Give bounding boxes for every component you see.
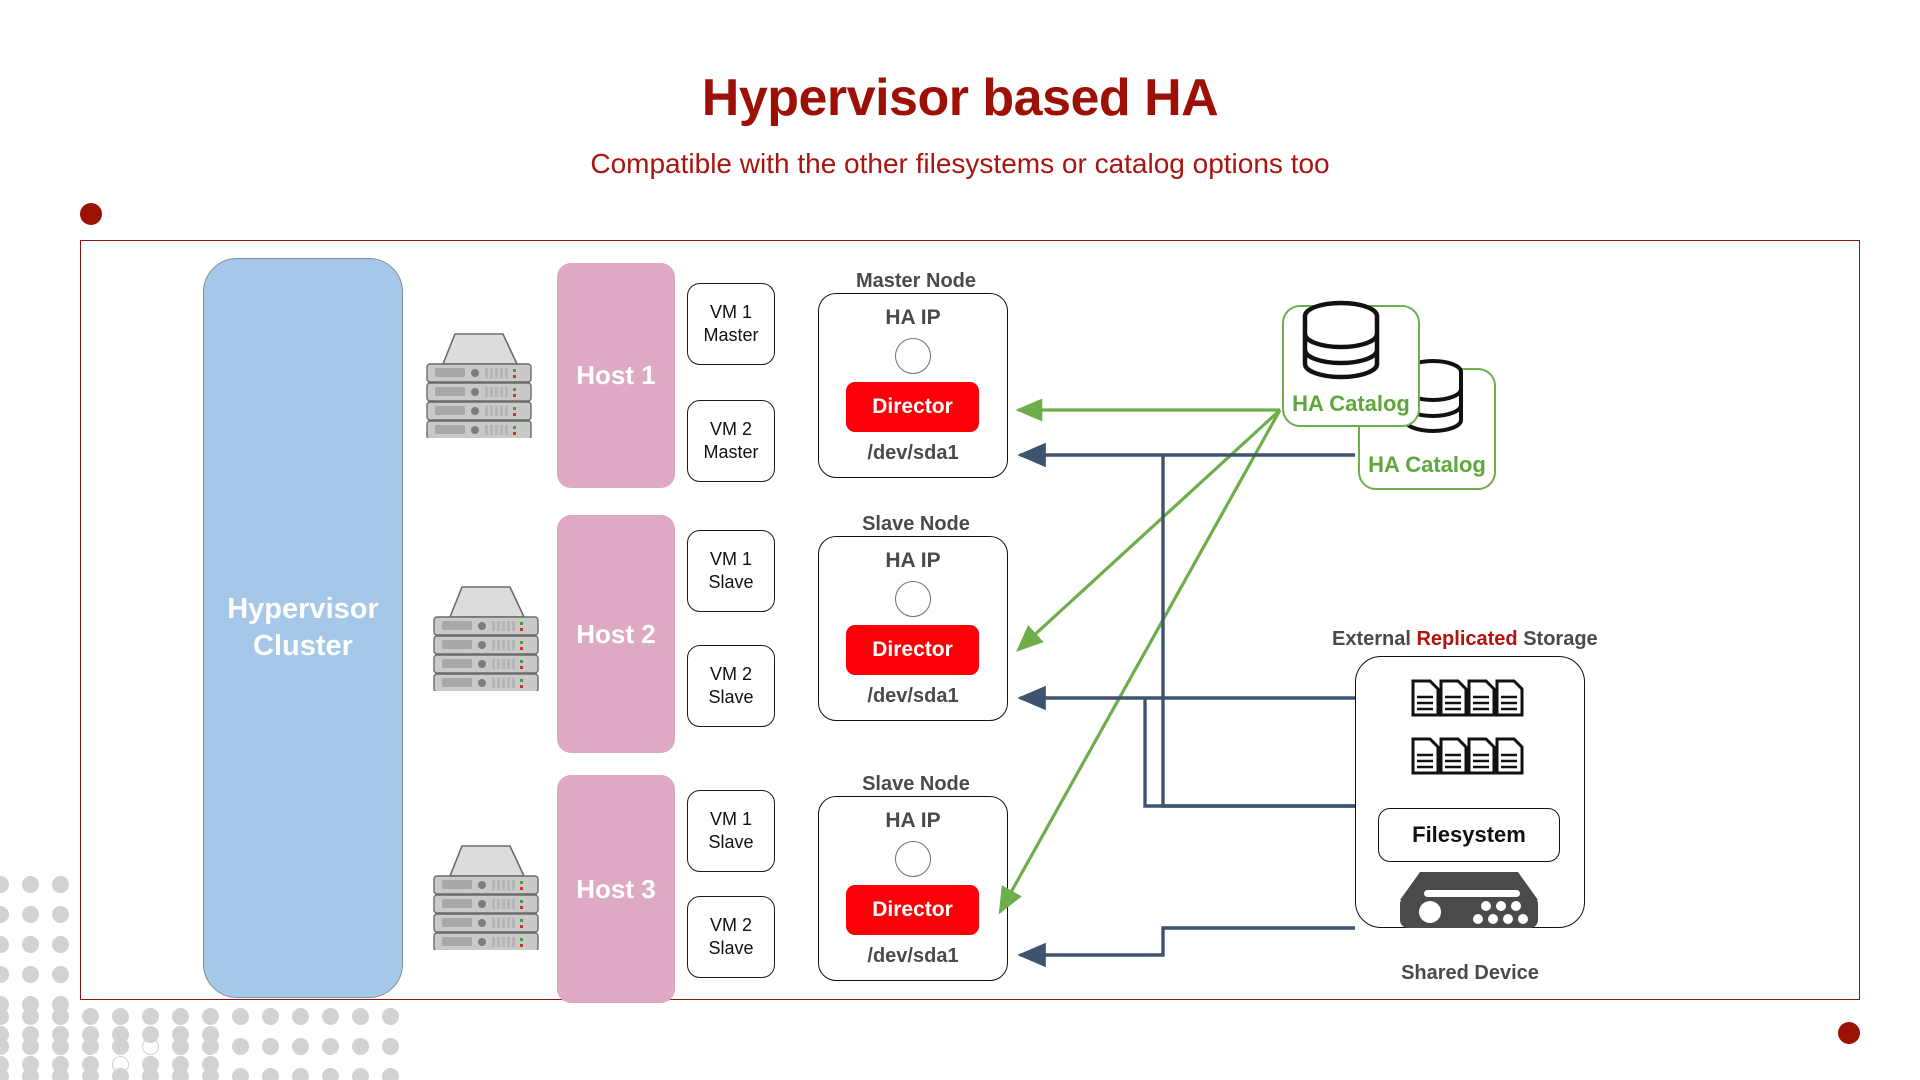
host-label: Host 3 xyxy=(576,874,655,905)
storage-title: External Replicated Storage xyxy=(1332,628,1598,651)
ha-ip-indicator-icon xyxy=(895,581,931,617)
vm-role: Slave xyxy=(708,686,753,709)
vm-name: VM 1 xyxy=(710,548,752,571)
vm-role: Master xyxy=(703,324,758,347)
device-path-label: /dev/sda1 xyxy=(819,685,1007,708)
ha-catalog-label: HA Catalog xyxy=(1284,391,1418,417)
storage-title-highlight: Replicated xyxy=(1416,628,1517,650)
filesystem-box[interactable]: Filesystem xyxy=(1378,808,1560,862)
vm-box[interactable]: VM 2 Slave xyxy=(687,896,775,978)
page-title: Hypervisor based HA xyxy=(0,68,1920,128)
vm-role: Slave xyxy=(708,571,753,594)
vm-name: VM 2 xyxy=(710,418,752,441)
host-label: Host 1 xyxy=(576,360,655,391)
host-box-3[interactable]: Host 3 xyxy=(557,775,675,1003)
slave-node-title-1: Slave Node xyxy=(816,513,1016,536)
device-path-label: /dev/sda1 xyxy=(819,945,1007,968)
shared-device-label: Shared Device xyxy=(1355,962,1585,985)
vm-box[interactable]: VM 1 Slave xyxy=(687,790,775,872)
vm-box[interactable]: VM 1 Slave xyxy=(687,530,775,612)
vm-name: VM 1 xyxy=(710,301,752,324)
filesystem-label: Filesystem xyxy=(1412,822,1526,848)
host-box-1[interactable]: Host 1 xyxy=(557,263,675,488)
accent-dot-bottom-right xyxy=(1838,1022,1860,1044)
page-subtitle: Compatible with the other filesystems or… xyxy=(0,148,1920,180)
ha-ip-label: HA IP xyxy=(819,549,1007,573)
storage-title-prefix: External xyxy=(1332,628,1416,650)
slave-node-panel-1[interactable]: HA IP Director /dev/sda1 xyxy=(818,536,1008,721)
vm-box[interactable]: VM 2 Master xyxy=(687,400,775,482)
ha-ip-indicator-icon xyxy=(895,841,931,877)
slide-canvas: Hypervisor based HA Compatible with the … xyxy=(0,0,1920,1080)
director-button[interactable]: Director xyxy=(846,885,979,935)
host-box-2[interactable]: Host 2 xyxy=(557,515,675,753)
vm-box[interactable]: VM 2 Slave xyxy=(687,645,775,727)
vm-name: VM 2 xyxy=(710,914,752,937)
director-button[interactable]: Director xyxy=(846,382,979,432)
server-rack-icon xyxy=(432,573,540,691)
vm-role: Master xyxy=(703,441,758,464)
hypervisor-cluster-label: Hypervisor Cluster xyxy=(227,591,379,665)
director-label: Director xyxy=(872,898,953,922)
hypervisor-cluster-panel: Hypervisor Cluster xyxy=(203,258,403,998)
server-rack-icon xyxy=(425,320,533,438)
vm-role: Slave xyxy=(708,831,753,854)
director-label: Director xyxy=(872,395,953,419)
vm-box[interactable]: VM 1 Master xyxy=(687,283,775,365)
vm-name: VM 2 xyxy=(710,663,752,686)
document-stack-icon xyxy=(1410,678,1526,718)
server-rack-icon xyxy=(432,832,540,950)
slave-node-title-2: Slave Node xyxy=(816,773,1016,796)
storage-appliance-icon xyxy=(1398,868,1540,930)
ha-ip-label: HA IP xyxy=(819,809,1007,833)
director-label: Director xyxy=(872,638,953,662)
host-label: Host 2 xyxy=(576,619,655,650)
vm-name: VM 1 xyxy=(710,808,752,831)
ha-ip-indicator-icon xyxy=(895,338,931,374)
ha-catalog-label: HA Catalog xyxy=(1360,452,1494,478)
vm-role: Slave xyxy=(708,937,753,960)
master-node-panel[interactable]: HA IP Director /dev/sda1 xyxy=(818,293,1008,478)
master-node-title: Master Node xyxy=(816,270,1016,293)
slave-node-panel-2[interactable]: HA IP Director /dev/sda1 xyxy=(818,796,1008,981)
device-path-label: /dev/sda1 xyxy=(819,442,1007,465)
director-button[interactable]: Director xyxy=(846,625,979,675)
accent-dot-top-left xyxy=(80,203,102,225)
ha-ip-label: HA IP xyxy=(819,306,1007,330)
database-cylinder-icon xyxy=(1298,300,1384,388)
document-stack-icon xyxy=(1410,736,1526,776)
storage-title-suffix: Storage xyxy=(1518,628,1598,650)
